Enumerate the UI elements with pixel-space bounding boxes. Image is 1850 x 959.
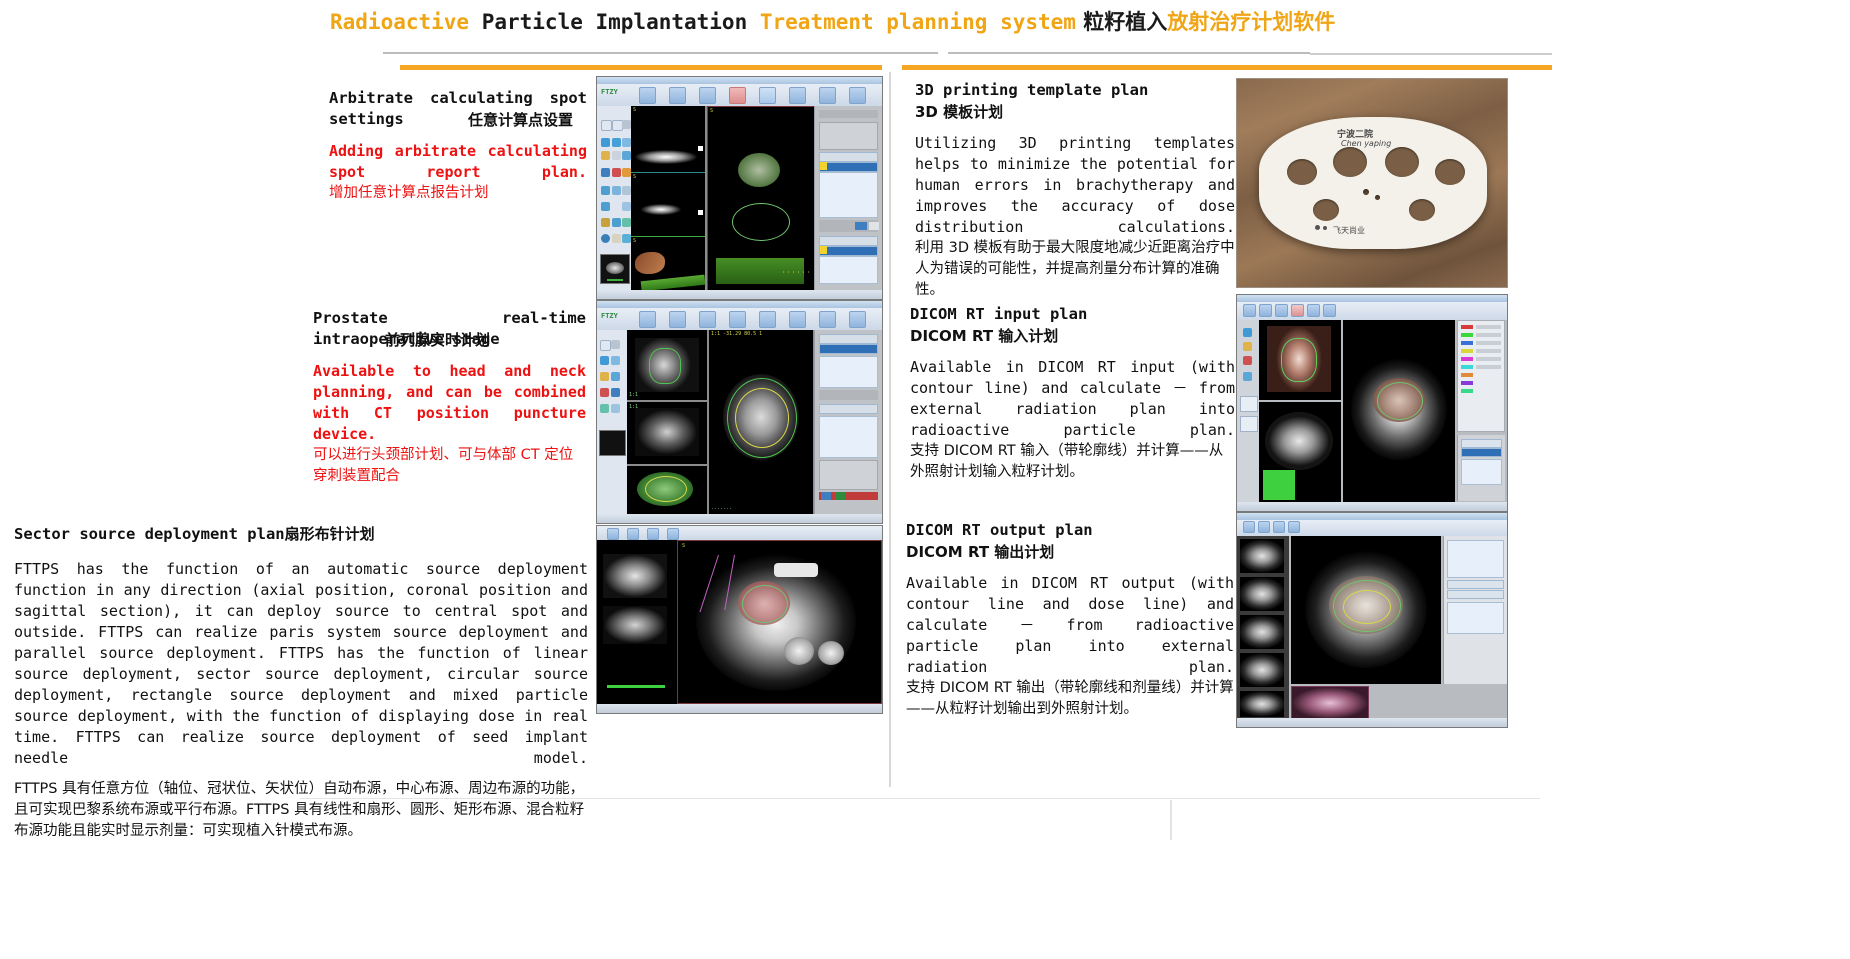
viewport-3d[interactable] bbox=[627, 466, 707, 514]
left-block-3-body-en: FTTPS has the function of an automatic s… bbox=[14, 559, 588, 769]
title-segment-treatment-planning-system: Treatment planning system bbox=[760, 10, 1076, 34]
right-block-2-heading-cn: DICOM RT 输入计划 bbox=[910, 325, 1058, 346]
tool-palette[interactable] bbox=[1237, 320, 1259, 511]
left-block-2-red-cn: 可以进行头颈部计划、可与体部 CT 定位穿刺装置配合 bbox=[313, 445, 586, 487]
status-bar bbox=[597, 290, 882, 299]
viewport-axial-small[interactable] bbox=[1259, 402, 1341, 506]
status-bar bbox=[597, 514, 882, 523]
left-block-1: Arbitrate calculating spot settings 任意计算… bbox=[329, 88, 587, 204]
parameter-panel[interactable] bbox=[814, 330, 882, 514]
dicom-rt-output-screenshot[interactable] bbox=[1236, 512, 1508, 728]
footer-separator bbox=[1170, 800, 1172, 840]
left-block-3: Sector source deployment plan 扇形布针计划 FTT… bbox=[14, 523, 588, 842]
left-block-3-body-cn: FTTPS 具有任意方位（轴位、冠状位、矢状位）自动布源，中心布源、周边布源的功… bbox=[14, 779, 588, 842]
right-block-1-heading-en: 3D printing template plan bbox=[915, 80, 1148, 101]
viewport-sagittal[interactable]: S S S bbox=[631, 106, 705, 291]
viewport-axial-main[interactable] bbox=[1343, 320, 1455, 506]
viewport-coronal[interactable] bbox=[1259, 320, 1341, 400]
page-title: Radioactive Particle Implantation Treatm… bbox=[330, 6, 1430, 40]
window-ribbon bbox=[597, 526, 882, 540]
right-block-2-heading-en: DICOM RT input plan bbox=[910, 304, 1087, 325]
right-block-3-body-en: Available in DICOM RT output (with conto… bbox=[906, 573, 1234, 678]
window-titlebar bbox=[597, 77, 882, 84]
left-block-1-red-cn: 增加任意计算点报告计划 bbox=[329, 183, 587, 204]
right-block-2: DICOM RT input plan DICOM RT 输入计划 Availa… bbox=[910, 304, 1235, 483]
structure-legend[interactable] bbox=[1457, 320, 1505, 432]
status-bar bbox=[597, 704, 882, 713]
divider-gray-right bbox=[1310, 53, 1552, 55]
right-block-3-body-cn: 支持 DICOM RT 输出（带轮廓线和剂量线）并计算——从粒籽计划输出到外照射… bbox=[906, 678, 1234, 720]
left-block-3-heading-en: Sector source deployment plan bbox=[14, 524, 285, 545]
status-bar bbox=[1237, 718, 1507, 727]
viewport-axial[interactable]: S ・・・・・・ bbox=[707, 106, 815, 293]
title-segment-radioactive: Radioactive bbox=[330, 10, 482, 34]
left-block-1-red-en: Adding arbitrate calculating spot report… bbox=[329, 141, 587, 183]
app-logo: FTZY bbox=[601, 312, 618, 320]
template-label-patient: Chen yaping bbox=[1341, 139, 1391, 148]
tool-palette[interactable] bbox=[597, 330, 627, 523]
arbitrate-calculating-spot-screenshot[interactable]: FTZY bbox=[596, 76, 883, 300]
accent-bar-right bbox=[902, 65, 1552, 70]
3d-printed-template-photo: 宁波二院 Chen yaping 飞天尚业 bbox=[1236, 78, 1508, 288]
viewport-axial-main[interactable] bbox=[1291, 536, 1441, 684]
right-block-1-body-en: Utilizing 3D printing templates helps to… bbox=[915, 133, 1235, 238]
template-label-vendor: 飞天尚业 bbox=[1333, 225, 1365, 236]
parameter-panel[interactable] bbox=[1457, 435, 1505, 501]
sector-source-deployment-screenshot[interactable]: S bbox=[596, 525, 883, 714]
right-block-2-body-en: Available in DICOM RT input (with contou… bbox=[910, 357, 1235, 441]
title-segment-particle-implantation: Particle Implantation bbox=[482, 10, 760, 34]
app-logo: FTZY bbox=[601, 88, 618, 96]
right-block-1-heading-cn: 3D 模板计划 bbox=[915, 101, 1003, 122]
title-segment-cn-black: 粒籽植入 bbox=[1076, 10, 1167, 34]
right-block-1: 3D printing template plan 3D 模板计划 Utiliz… bbox=[915, 80, 1235, 301]
left-block-3-heading-cn: 扇形布针计划 bbox=[285, 523, 375, 544]
right-block-1-body-cn: 利用 3D 模板有助于最大限度地减少近距离治疗中人为错误的可能性，并提高剂量分布… bbox=[915, 238, 1235, 301]
parameter-panel[interactable] bbox=[814, 106, 882, 290]
tool-palette[interactable] bbox=[597, 106, 631, 299]
divider-gray-left bbox=[383, 52, 938, 54]
left-block-2: Prostate real-time intraoperative stage … bbox=[313, 308, 586, 487]
right-block-2-body-cn: 支持 DICOM RT 输入（带轮廓线）并计算——从外照射计划输入粒籽计划。 bbox=[910, 441, 1235, 483]
viewport-coronal[interactable]: 1:1 bbox=[627, 330, 707, 400]
right-block-3-heading-cn: DICOM RT 输出计划 bbox=[906, 541, 1054, 562]
window-titlebar bbox=[1237, 513, 1507, 520]
viewport-ultrasound[interactable]: 1:1 -31.29 80.5 1 ....... bbox=[709, 330, 813, 514]
prostate-realtime-screenshot[interactable]: FTZY 1:1 1:1 bbox=[596, 300, 883, 524]
right-block-3: DICOM RT output plan DICOM RT 输出计划 Avail… bbox=[906, 520, 1234, 720]
fused-image-preview[interactable] bbox=[1291, 686, 1369, 720]
preview-thumbnail bbox=[600, 254, 630, 284]
window-titlebar bbox=[1237, 295, 1507, 302]
status-bar bbox=[1237, 502, 1507, 511]
slide-canvas: Radioactive Particle Implantation Treatm… bbox=[0, 0, 1850, 959]
accent-bar-left bbox=[400, 65, 882, 70]
left-block-1-heading-cn: 任意计算点设置 bbox=[468, 109, 587, 130]
dicom-rt-input-screenshot[interactable] bbox=[1236, 294, 1508, 512]
left-block-2-red-en: Available to head and neck planning, and… bbox=[313, 361, 586, 445]
divider-gray-mid bbox=[948, 52, 1310, 54]
column-separator bbox=[889, 72, 891, 787]
window-titlebar bbox=[597, 301, 882, 308]
slice-thumbnail-strip[interactable] bbox=[1237, 536, 1289, 718]
viewport-sagittal[interactable]: 1:1 bbox=[627, 402, 707, 464]
viewport-sagittal[interactable] bbox=[597, 540, 677, 704]
left-block-2-heading-cn: 前列腺实时计划 bbox=[385, 329, 586, 350]
3d-printed-template-body: 宁波二院 Chen yaping 飞天尚业 bbox=[1259, 117, 1487, 249]
right-block-3-heading-en: DICOM RT output plan bbox=[906, 520, 1093, 541]
title-segment-cn-orange: 放射治疗计划软件 bbox=[1167, 10, 1335, 34]
parameter-panel[interactable] bbox=[1443, 536, 1507, 684]
viewport-axial[interactable]: S bbox=[677, 540, 882, 704]
